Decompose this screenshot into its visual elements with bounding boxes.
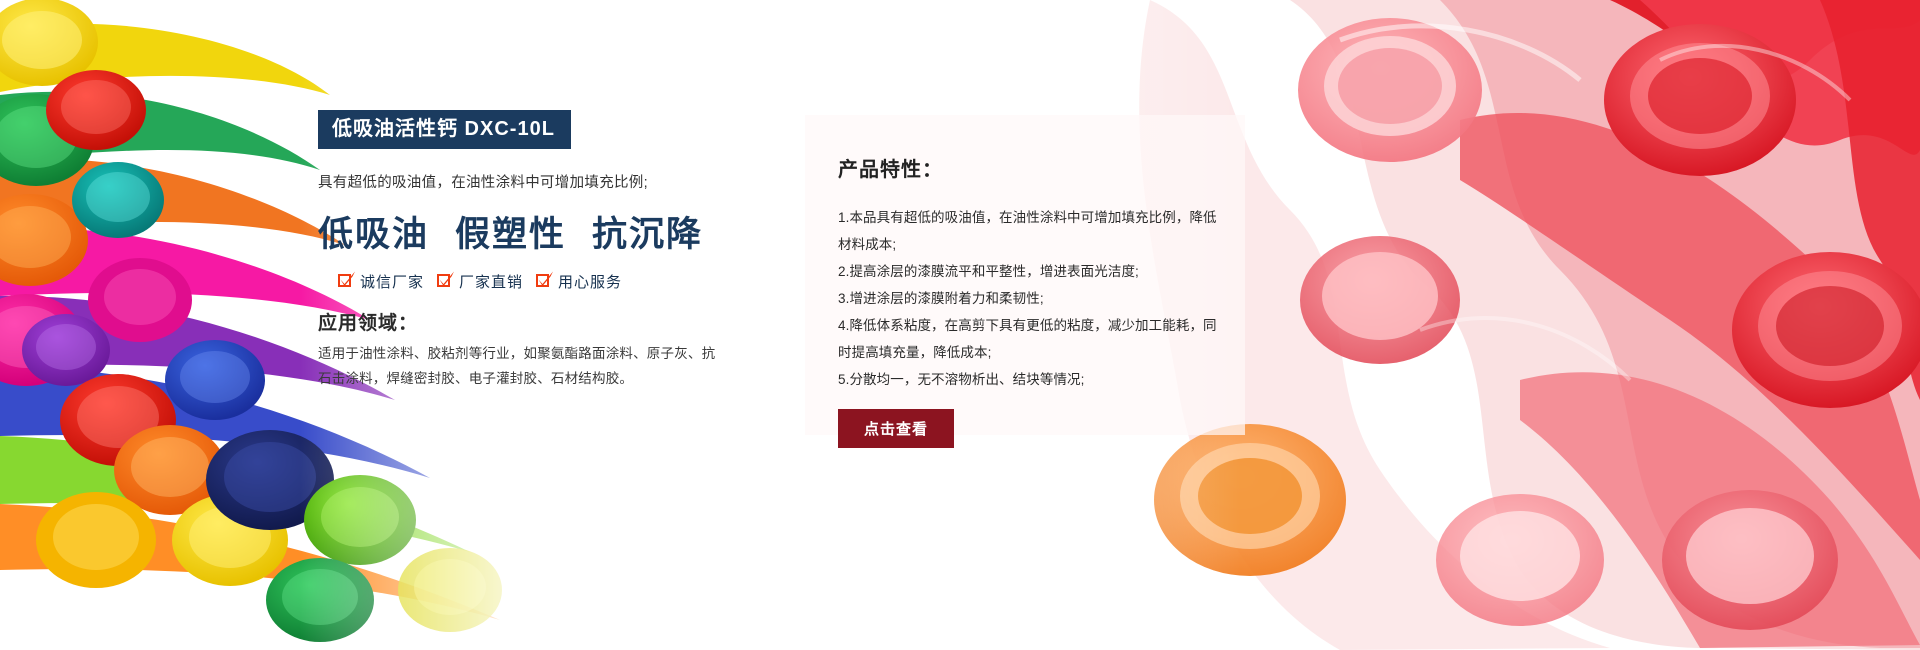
feature-label-2: 厂家直销 <box>459 271 523 292</box>
check-mark-icon <box>437 273 454 290</box>
feature-label-3: 用心服务 <box>558 271 622 292</box>
panel-list-item: 3.增进涂层的漆膜附着力和柔韧性; <box>838 285 1217 312</box>
headline-word-1: 低吸油 <box>318 215 429 254</box>
feature-item-1: 诚信厂家 <box>338 271 424 292</box>
headline-word-2: 假塑性 <box>455 215 566 254</box>
application-section-body: 适用于油性涂料、胶粘剂等行业，如聚氨酯路面涂料、原子灰、抗石击涂料，焊缝密封胶、… <box>318 342 718 392</box>
left-content-column: 低吸油活性钙 DXC-10L 具有超低的吸油值，在油性涂料中可增加填充比例; 低… <box>318 110 738 392</box>
product-characteristics-panel: 产品特性： 1.本品具有超低的吸油值，在油性涂料中可增加填充比例，降低材料成本;… <box>805 115 1245 435</box>
panel-title: 产品特性： <box>838 153 1217 182</box>
check-mark-icon <box>536 273 553 290</box>
product-headline: 低吸油假塑性抗沉降 <box>318 206 738 257</box>
product-subline: 具有超低的吸油值，在油性涂料中可增加填充比例; <box>318 171 738 192</box>
panel-list-item: 1.本品具有超低的吸油值，在油性涂料中可增加填充比例，降低材料成本; <box>838 204 1217 258</box>
panel-list-item: 4.降低体系粘度，在高剪下具有更低的粘度，减少加工能耗，同时提高填充量，降低成本… <box>838 312 1217 366</box>
panel-list-item: 2.提高涂层的漆膜流平和平整性，增进表面光洁度; <box>838 258 1217 285</box>
headline-word-3: 抗沉降 <box>592 215 703 254</box>
feature-label-1: 诚信厂家 <box>360 271 424 292</box>
feature-badge-row: 诚信厂家 厂家直销 用心服务 <box>318 271 738 292</box>
product-title-badge: 低吸油活性钙 DXC-10L <box>318 110 571 149</box>
product-banner: 低吸油活性钙 DXC-10L 具有超低的吸油值，在油性涂料中可增加填充比例; 低… <box>0 0 1920 650</box>
view-details-button[interactable]: 点击查看 <box>838 409 954 448</box>
feature-item-2: 厂家直销 <box>437 271 523 292</box>
application-section-title: 应用领域： <box>318 308 738 335</box>
panel-list-item: 5.分散均一，无不溶物析出、结块等情况; <box>838 366 1217 393</box>
feature-item-3: 用心服务 <box>536 271 622 292</box>
panel-feature-list: 1.本品具有超低的吸油值，在油性涂料中可增加填充比例，降低材料成本; 2.提高涂… <box>838 204 1217 393</box>
panel-inner: 产品特性： 1.本品具有超低的吸油值，在油性涂料中可增加填充比例，降低材料成本;… <box>805 115 1245 393</box>
check-mark-icon <box>338 273 355 290</box>
